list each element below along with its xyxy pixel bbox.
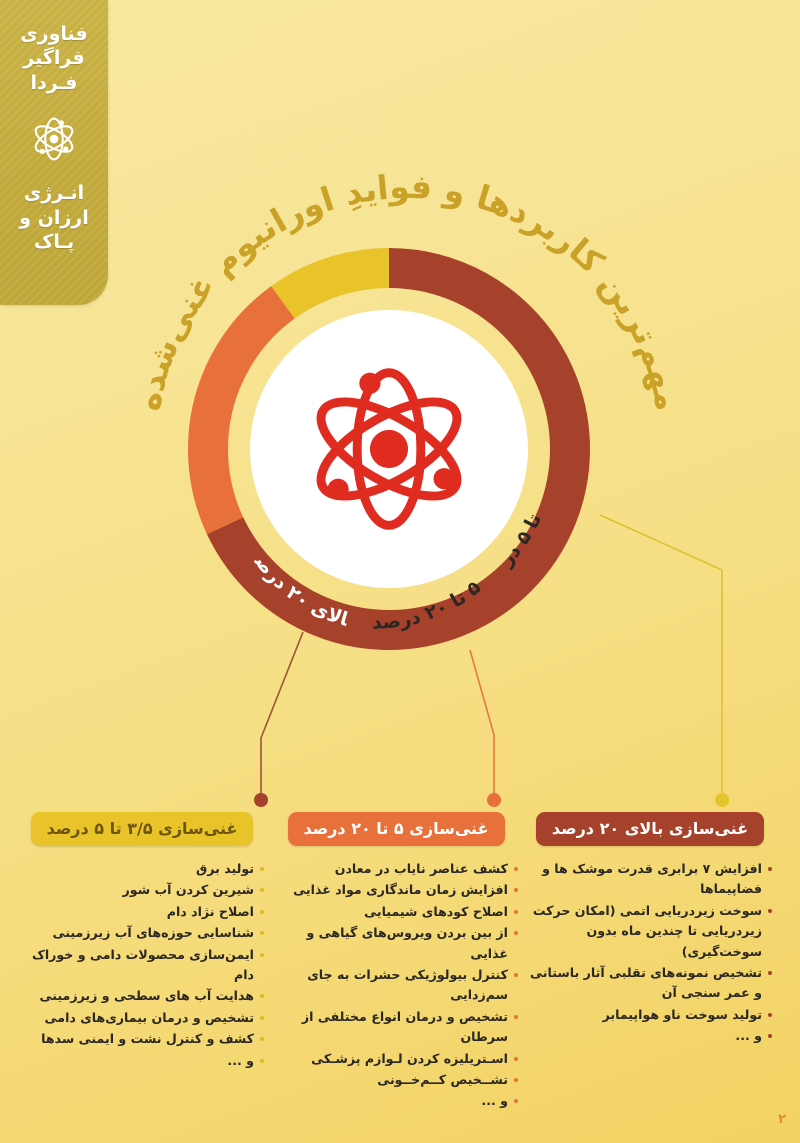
connector-dot-above-20 [254,793,268,807]
list-item: اصلاح کودهای شیمیایی [272,902,520,922]
list-item: شناسایی حوزه‌های آب زیرزمینی [18,923,266,943]
list-item: و ... [18,1051,266,1071]
brand-banner: فناوری فراگیر فـردا انـرژی ارزان و پـاک [0,0,108,305]
list-item: تولید سوخت ناو هواپیمابر [526,1005,774,1025]
list-item: هدایت آب های سطحی و زیرزمینی [18,986,266,1006]
connector-3_5-to-5 [600,515,722,795]
connector-5-to-20 [470,650,494,795]
list-item: تولید برق [18,859,266,879]
list-item: اسـتریلیزه کردن لـوازم پزشـکی [272,1049,520,1069]
list-item: افزایش ۷ برابری قدرت موشک ها و فضاپیماها [526,859,774,900]
list-item: اصلاح نژاد دام [18,902,266,922]
connector-dot-5-to-20 [487,793,501,807]
list-item: ایمن‌سازی محصولات دامی و خوراک دام [18,945,266,986]
legend-cards: غنی‌سازی ۳/۵ تا ۵ درصد تولید برق شیرین ک… [18,812,782,1113]
page-number: ۲ [778,1112,786,1127]
list-item: کنترل بیولوژیکی حشرات به جای سم‌زدایی [272,965,520,1006]
list-item: شیرین کردن آب شور [18,880,266,900]
card-3_5-to-5: غنی‌سازی ۳/۵ تا ۵ درصد تولید برق شیرین ک… [18,812,266,1072]
list-item: افزایش زمان ماندگاری مواد غذایی [272,880,520,900]
card-header-5-to-20[interactable]: غنی‌سازی ۵ تا ۲۰ درصد [288,812,505,846]
card-5-to-20: غنی‌سازی ۵ تا ۲۰ درصد کشف عناصر نایاب در… [272,812,520,1113]
list-item: کشف و کنترل نشت و ایمنی سدها [18,1029,266,1049]
list-item: تشخیص نمونه‌های تقلبی آثار باستانی و عمر… [526,963,774,1004]
list-item: و ... [272,1091,520,1111]
list-item: تشــخیص کــم‌خــونی [272,1070,520,1090]
list-item: تشخیص و درمان انواع مختلفی از سرطان [272,1007,520,1048]
connector-dot-3_5-to-5 [715,793,729,807]
list-item: سوخت زیردریایی اتمی (امکان حرکت زیردریای… [526,901,774,962]
list-item: از بین بردن ویروس‌های گیاهی و غذایی [272,923,520,964]
atom-icon [23,108,85,170]
card-list-3_5-to-5: تولید برق شیرین کردن آب شور اصلاح نژاد د… [18,859,266,1072]
poster-canvas: فناوری فراگیر فـردا انـرژی ارزان و پـاک … [0,0,800,1143]
list-item: تشخیص و درمان بیماری‌های دامی [18,1008,266,1028]
card-list-5-to-20: کشف عناصر نایاب در معادن افزایش زمان مان… [272,859,520,1113]
enrichment-donut-chart: بالای ۲۰ درصد ۵ تا ۲۰ درصد ۳/۵ تا ۵ درصد [168,228,610,670]
brand-subtitle: انـرژی ارزان و پـاک [0,181,108,255]
card-above-20: غنی‌سازی بالای ۲۰ درصد افزایش ۷ برابری ق… [526,812,774,1048]
brand-title: فناوری فراگیر فـردا [0,22,108,95]
list-item: کشف عناصر نایاب در معادن [272,859,520,879]
card-list-above-20: افزایش ۷ برابری قدرت موشک ها و فضاپیماها… [526,859,774,1048]
card-header-above-20[interactable]: غنی‌سازی بالای ۲۰ درصد [536,812,764,846]
atom-icon [283,343,495,555]
card-header-3_5-to-5[interactable]: غنی‌سازی ۳/۵ تا ۵ درصد [31,812,254,846]
list-item: و ... [526,1026,774,1046]
